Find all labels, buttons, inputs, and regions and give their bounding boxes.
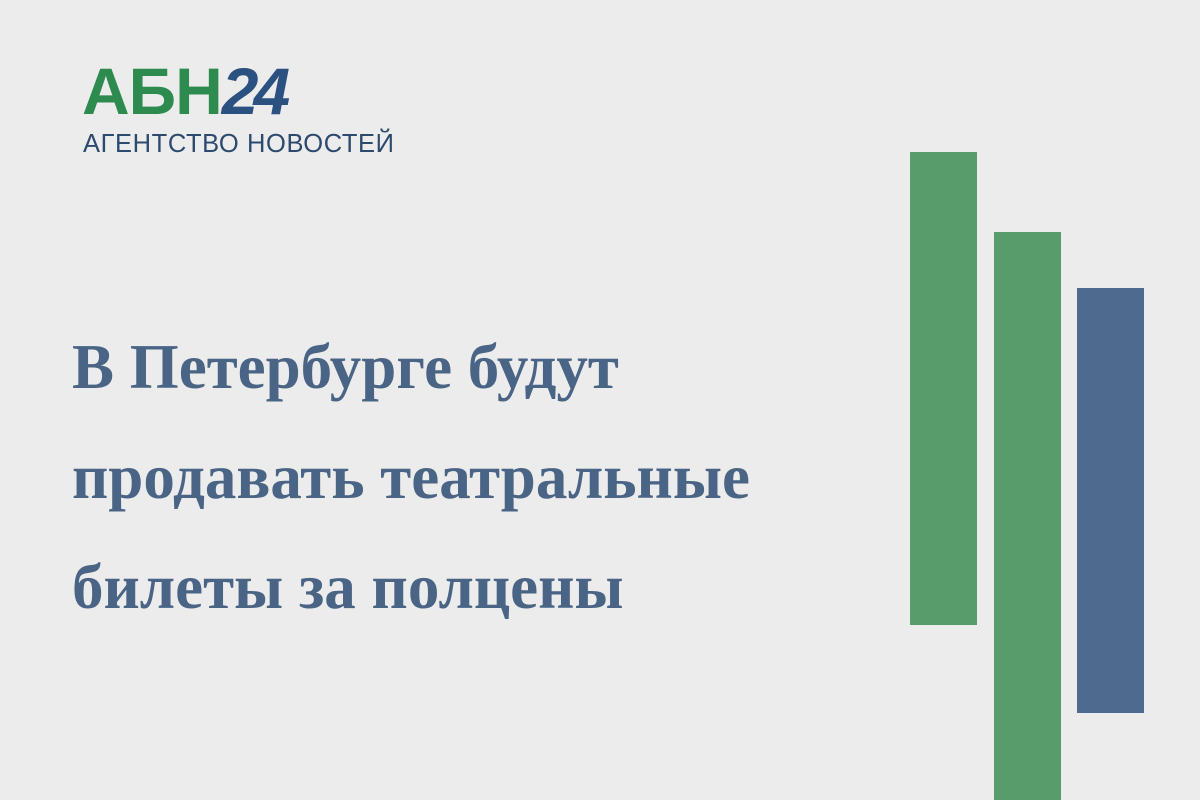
bar-tall-green — [910, 152, 977, 625]
bar-short-blue — [1077, 288, 1144, 713]
page-title: В Петербурге будут продавать театральные… — [72, 312, 872, 642]
logo-24-text: 24 — [222, 54, 285, 128]
logo[interactable]: АБН24 АГЕНТСТВО НОВОСТЕЙ — [82, 58, 372, 158]
headline-line-2: продавать театральные — [72, 422, 872, 532]
logo-wordmark: АБН24 — [82, 58, 372, 124]
logo-abn-text: АБН — [82, 54, 222, 128]
bar-mid-green — [994, 232, 1061, 800]
headline-line-1: В Петербурге будут — [72, 312, 872, 422]
logo-tagline: АГЕНТСТВО НОВОСТЕЙ — [83, 132, 372, 158]
news-card: АБН24 АГЕНТСТВО НОВОСТЕЙ В Петербурге бу… — [0, 0, 1200, 800]
headline-line-3: билеты за полцены — [72, 532, 872, 642]
